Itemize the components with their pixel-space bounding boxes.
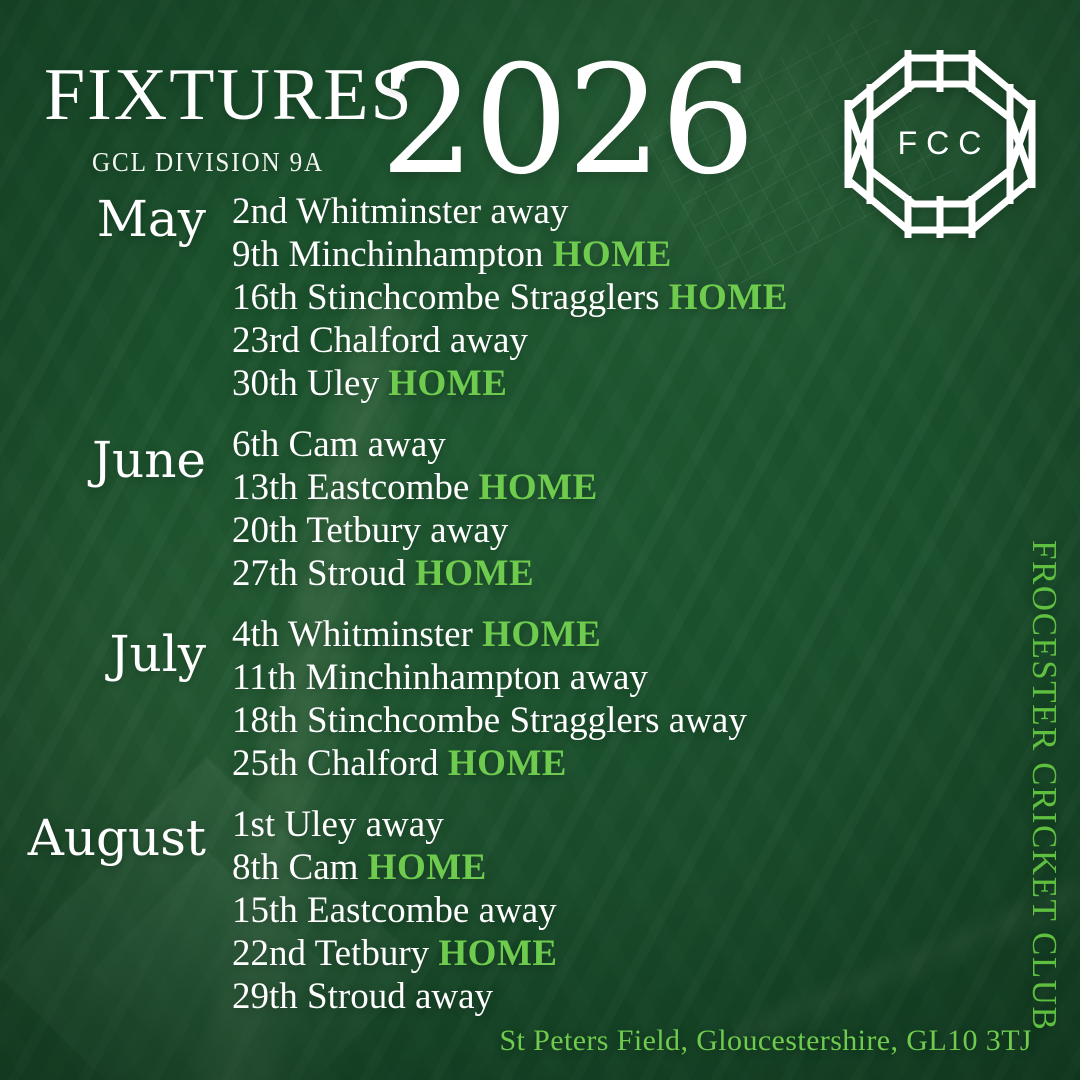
fixture-date: 6th <box>232 424 279 465</box>
fixture-date: 9th <box>232 234 279 275</box>
club-name-vertical: FROCESTER CRICKET CLUB <box>1024 540 1064 1031</box>
fixture-date: 8th <box>232 847 279 888</box>
fixture-opponent: Eastcombe <box>307 467 469 508</box>
fixture-opponent: Uley <box>307 363 379 404</box>
venue-home-badge: HOME <box>669 277 788 318</box>
fixture-opponent: Stroud <box>307 553 406 594</box>
fixture-row: 6th Cam away <box>232 423 1080 466</box>
month-fixtures: 6th Cam away13th Eastcombe HOME20th Tetb… <box>232 419 1080 595</box>
fixture-opponent: Eastcombe <box>307 890 469 931</box>
venue-away-label: away <box>570 657 648 698</box>
month-label: July <box>0 609 232 679</box>
fixture-date: 25th <box>232 743 298 784</box>
fixture-row: 11th Minchinhampton away <box>232 656 1080 699</box>
ground-address: St Peters Field, Gloucestershire, GL10 3… <box>499 1024 1032 1058</box>
venue-away-label: away <box>368 424 446 465</box>
fixture-date: 23rd <box>232 320 300 361</box>
venue-home-badge: HOME <box>368 847 487 888</box>
fixture-row: 29th Stroud away <box>232 975 1080 1018</box>
venue-home-badge: HOME <box>479 467 598 508</box>
season-year: 2026 <box>380 46 754 196</box>
fixture-date: 2nd <box>232 191 288 232</box>
venue-away-label: away <box>430 510 508 551</box>
division-label: GCL DIVISION 9A <box>92 147 324 178</box>
venue-away-label: away <box>366 804 444 845</box>
venue-away-label: away <box>450 320 528 361</box>
month-block-may: May2nd Whitminster away9th Minchinhampto… <box>0 186 1080 405</box>
venue-home-badge: HOME <box>438 933 557 974</box>
fixture-opponent: Stroud <box>307 976 406 1017</box>
fixture-date: 29th <box>232 976 298 1017</box>
venue-away-label: away <box>479 890 557 931</box>
fixture-row: 18th Stinchcombe Stragglers away <box>232 699 1080 742</box>
fixture-date: 18th <box>232 700 298 741</box>
month-label: June <box>0 419 232 485</box>
month-fixtures: 1st Uley away8th Cam HOME15th Eastcombe … <box>232 799 1080 1018</box>
fixtures-list: May2nd Whitminster away9th Minchinhampto… <box>0 186 1080 1032</box>
venue-away-label: away <box>490 191 568 232</box>
fixture-row: 2nd Whitminster away <box>232 190 1080 233</box>
fixture-row: 20th Tetbury away <box>232 509 1080 552</box>
venue-home-badge: HOME <box>415 553 534 594</box>
poster-header: FIXTURES GCL DIVISION 9A 2026 <box>44 34 724 184</box>
venue-away-label: away <box>669 700 747 741</box>
venue-away-label: away <box>415 976 493 1017</box>
fixture-opponent: Tetbury <box>306 510 421 551</box>
fixtures-poster: FIXTURES GCL DIVISION 9A 2026 <box>0 0 1080 1080</box>
fixture-opponent: Chalford <box>307 743 439 784</box>
fixture-date: 30th <box>232 363 298 404</box>
venue-home-badge: HOME <box>482 614 601 655</box>
fixture-opponent: Uley <box>284 804 356 845</box>
fixture-opponent: Minchinhampton <box>306 657 561 698</box>
fixture-opponent: Stinchcombe Stragglers <box>307 700 659 741</box>
month-label: May <box>0 186 232 244</box>
page-title: FIXTURES <box>44 62 414 129</box>
fixture-row: 30th Uley HOME <box>232 362 1080 405</box>
venue-home-badge: HOME <box>553 234 672 275</box>
fixture-date: 15th <box>232 890 298 931</box>
fixture-opponent: Stinchcombe Stragglers <box>307 277 659 318</box>
fixture-row: 1st Uley away <box>232 803 1080 846</box>
month-block-june: June6th Cam away13th Eastcombe HOME20th … <box>0 419 1080 595</box>
fixture-opponent: Cam <box>289 847 359 888</box>
fixture-date: 4th <box>232 614 279 655</box>
fixture-date: 16th <box>232 277 298 318</box>
fixture-opponent: Tetbury <box>315 933 430 974</box>
fixture-date: 1st <box>232 804 275 845</box>
club-monogram: FCC <box>834 125 1046 162</box>
fixture-opponent: Minchinhampton <box>289 234 544 275</box>
month-block-august: August1st Uley away8th Cam HOME15th East… <box>0 799 1080 1018</box>
fixture-opponent: Cam <box>289 424 359 465</box>
fixture-date: 22nd <box>232 933 306 974</box>
fixture-row: 27th Stroud HOME <box>232 552 1080 595</box>
fixture-row: 25th Chalford HOME <box>232 742 1080 785</box>
fixture-row: 23rd Chalford away <box>232 319 1080 362</box>
venue-home-badge: HOME <box>448 743 567 784</box>
month-fixtures: 2nd Whitminster away9th Minchinhampton H… <box>232 186 1080 405</box>
fixture-row: 15th Eastcombe away <box>232 889 1080 932</box>
fixture-row: 13th Eastcombe HOME <box>232 466 1080 509</box>
month-fixtures: 4th Whitminster HOME11th Minchinhampton … <box>232 609 1080 785</box>
fixture-row: 16th Stinchcombe Stragglers HOME <box>232 276 1080 319</box>
month-block-july: July4th Whitminster HOME11th Minchinhamp… <box>0 609 1080 785</box>
fixture-row: 8th Cam HOME <box>232 846 1080 889</box>
fixture-row: 9th Minchinhampton HOME <box>232 233 1080 276</box>
fixture-opponent: Whitminster <box>296 191 481 232</box>
fixture-date: 27th <box>232 553 298 594</box>
venue-home-badge: HOME <box>388 363 507 404</box>
fixture-date: 20th <box>232 510 298 551</box>
fixture-row: 4th Whitminster HOME <box>232 613 1080 656</box>
fixture-date: 13th <box>232 467 298 508</box>
month-label: August <box>0 799 232 863</box>
fixture-row: 22nd Tetbury HOME <box>232 932 1080 975</box>
fixture-opponent: Chalford <box>309 320 441 361</box>
fixture-opponent: Whitminster <box>288 614 473 655</box>
fixture-date: 11th <box>232 657 296 698</box>
